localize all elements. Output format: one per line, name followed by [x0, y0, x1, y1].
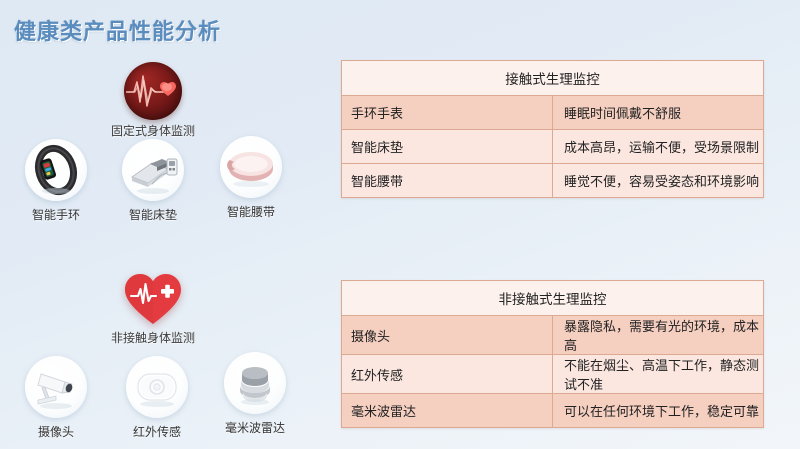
infrared-sensor-icon [126, 356, 188, 418]
row-name-cell: 智能床垫 [342, 130, 553, 164]
row-name-cell: 手环手表 [342, 96, 553, 130]
product-label: 智能手环 [8, 206, 104, 223]
table-row: 智能腰带 睡觉不便，容易受姿态和环境影响 [342, 164, 764, 198]
row-desc-cell: 不能在烟尘、高温下工作，静态测试不准 [553, 355, 764, 394]
product-smart-wristband[interactable]: 智能手环 [8, 139, 104, 223]
row-desc-cell: 可以在任何环境下工作，稳定可靠 [553, 394, 764, 428]
product-label: 智能腰带 [203, 203, 299, 220]
mmwave-radar-icon [224, 352, 286, 414]
row-desc-cell: 成本高昂，运输不便，受场景限制 [553, 130, 764, 164]
row-name-cell: 红外传感 [342, 355, 553, 394]
camera-icon [25, 356, 87, 418]
product-mmwave-radar[interactable]: 毫米波雷达 [207, 352, 303, 436]
group-contactless-caption: 非接触身体监测 [78, 329, 228, 346]
contact-table: 接触式生理监控 手环手表 睡眠时间佩戴不舒服 智能床垫 成本高昂，运输不便，受场… [341, 60, 764, 198]
product-smart-mattress[interactable]: 智能床垫 [105, 139, 201, 223]
product-label: 摄像头 [8, 423, 104, 440]
smart-belt-icon [220, 136, 282, 198]
page-title: 健康类产品性能分析 [14, 14, 221, 46]
smart-wristband-icon [25, 139, 87, 201]
product-camera[interactable]: 摄像头 [8, 356, 104, 440]
group-contact-header: 固定式身体监测 [78, 62, 228, 139]
product-label: 红外传感 [109, 423, 205, 440]
smart-mattress-icon [122, 139, 184, 201]
product-smart-belt[interactable]: 智能腰带 [203, 136, 299, 220]
heart-ecg-icon [123, 271, 183, 327]
table-row: 红外传感 不能在烟尘、高温下工作，静态测试不准 [342, 355, 764, 394]
table-header-cell: 接触式生理监控 [342, 61, 764, 96]
slide-canvas: 健康类产品性能分析 固定式身体监测 [0, 0, 800, 449]
row-name-cell: 摄像头 [342, 316, 553, 355]
table-row: 智能床垫 成本高昂，运输不便，受场景限制 [342, 130, 764, 164]
row-desc-cell: 睡觉不便，容易受姿态和环境影响 [553, 164, 764, 198]
row-desc-cell: 睡眠时间佩戴不舒服 [553, 96, 764, 130]
row-name-cell: 毫米波雷达 [342, 394, 553, 428]
table-row: 摄像头 暴露隐私，需要有光的环境，成本高 [342, 316, 764, 355]
table-row: 手环手表 睡眠时间佩戴不舒服 [342, 96, 764, 130]
row-name-cell: 智能腰带 [342, 164, 553, 198]
product-label: 智能床垫 [105, 206, 201, 223]
product-label: 毫米波雷达 [207, 419, 303, 436]
table-row: 毫米波雷达 可以在任何环境下工作，稳定可靠 [342, 394, 764, 428]
product-infrared-sensor[interactable]: 红外传感 [109, 356, 205, 440]
table-header-row: 非接触式生理监控 [342, 281, 764, 316]
table-header-cell: 非接触式生理监控 [342, 281, 764, 316]
row-desc-cell: 暴露隐私，需要有光的环境，成本高 [553, 316, 764, 355]
ecg-sphere-icon [124, 62, 182, 120]
table-header-row: 接触式生理监控 [342, 61, 764, 96]
contactless-table: 非接触式生理监控 摄像头 暴露隐私，需要有光的环境，成本高 红外传感 不能在烟尘… [341, 280, 764, 428]
group-contactless-header: 非接触身体监测 [78, 271, 228, 346]
